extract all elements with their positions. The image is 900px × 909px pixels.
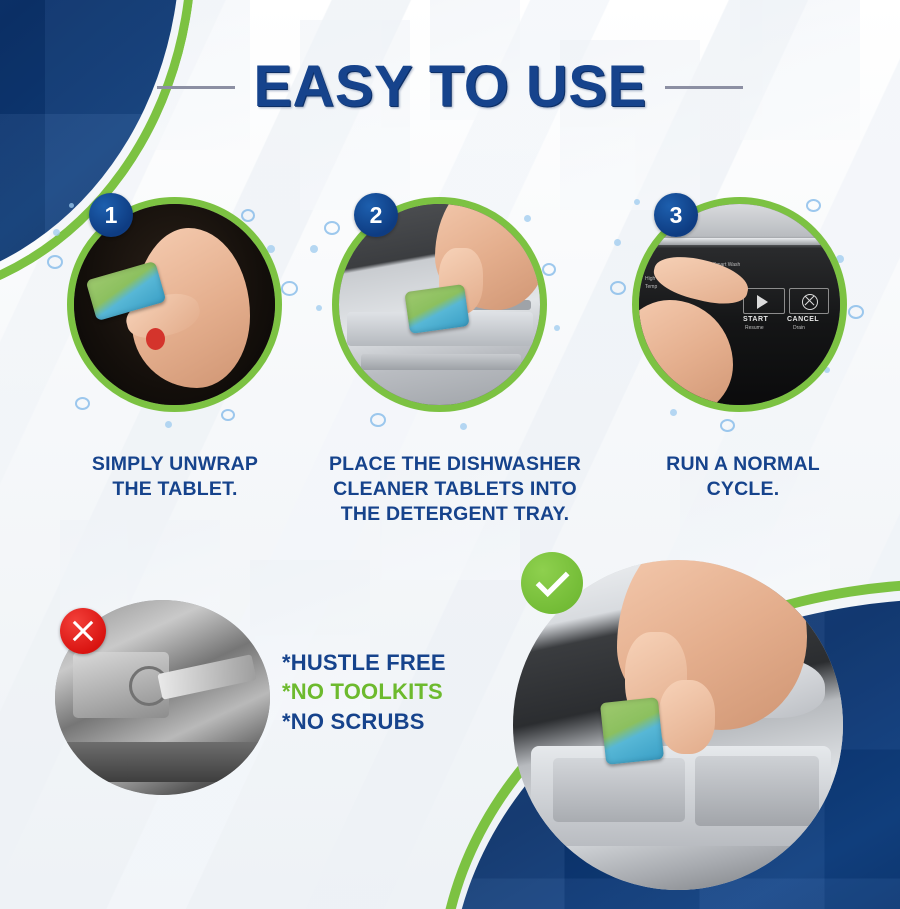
steps-row: 1 <box>0 185 900 445</box>
caption-line: RUN A NORMAL <box>612 452 874 477</box>
benefit-item: *NO SCRUBS <box>282 707 522 736</box>
step-1-image-circle: 1 <box>67 197 282 412</box>
tray-compartment-graphic <box>553 758 685 822</box>
heading-rule-left <box>157 86 235 89</box>
bad-example-block <box>55 600 270 795</box>
cancel-button-sublabel: Drain <box>793 325 805 331</box>
caption-line: SIMPLY UNWRAP <box>40 452 310 477</box>
benefits-list: *HUSTLE FREE *NO TOOLKITS *NO SCRUBS <box>282 648 522 736</box>
play-icon <box>757 295 768 309</box>
infographic-canvas: EASY TO USE <box>0 0 900 909</box>
check-mark-badge <box>521 552 583 614</box>
panel-label-high: High <box>645 276 655 282</box>
cancel-button[interactable] <box>789 288 829 314</box>
cancel-button-label: CANCEL <box>787 316 819 323</box>
start-button-sublabel: Resume <box>745 325 764 331</box>
hero-block <box>505 552 865 897</box>
start-button[interactable] <box>743 288 785 314</box>
benefit-item: *NO TOOLKITS <box>282 677 522 706</box>
heading-row: EASY TO USE <box>0 58 900 116</box>
panel-label-temp: Temp <box>645 284 657 290</box>
caption-line: THE TABLET. <box>40 477 310 502</box>
tablet-graphic <box>600 697 664 765</box>
caption-line: PLACE THE DISHWASHER <box>300 452 610 477</box>
thumb-graphic <box>659 680 715 754</box>
caption-line: CYCLE. <box>612 477 874 502</box>
close-icon <box>68 616 98 646</box>
caption-line: CLEANER TABLETS INTO <box>300 477 610 502</box>
tablet-graphic <box>404 284 469 334</box>
step-3-image-circle: Smart Wash High Temp Sani Rinse START Re… <box>632 197 847 412</box>
step-captions: SIMPLY UNWRAP THE TABLET. PLACE THE DISH… <box>0 452 900 542</box>
page-title: EASY TO USE <box>253 58 646 116</box>
start-button-label: START <box>743 316 768 323</box>
step-2-caption: PLACE THE DISHWASHER CLEANER TABLETS INT… <box>300 452 610 527</box>
step-3-caption: RUN A NORMAL CYCLE. <box>612 452 874 502</box>
caption-line: THE DETERGENT TRAY. <box>300 502 610 527</box>
door-edge-graphic <box>61 742 261 782</box>
x-mark-badge <box>60 608 106 654</box>
tray-base-graphic <box>361 354 521 370</box>
heading-rule-right <box>665 86 743 89</box>
step-2-number-badge: 2 <box>354 193 398 237</box>
panel-trim-graphic <box>639 238 840 245</box>
benefit-item: *HUSTLE FREE <box>282 648 522 677</box>
step-3-number-badge: 3 <box>654 193 698 237</box>
step-1-number-badge: 1 <box>89 193 133 237</box>
fingernail-graphic <box>146 328 165 350</box>
step-2-image-circle: 2 <box>332 197 547 412</box>
tray-compartment-graphic <box>695 756 819 826</box>
step-1-caption: SIMPLY UNWRAP THE TABLET. <box>40 452 310 502</box>
check-icon <box>532 563 572 603</box>
